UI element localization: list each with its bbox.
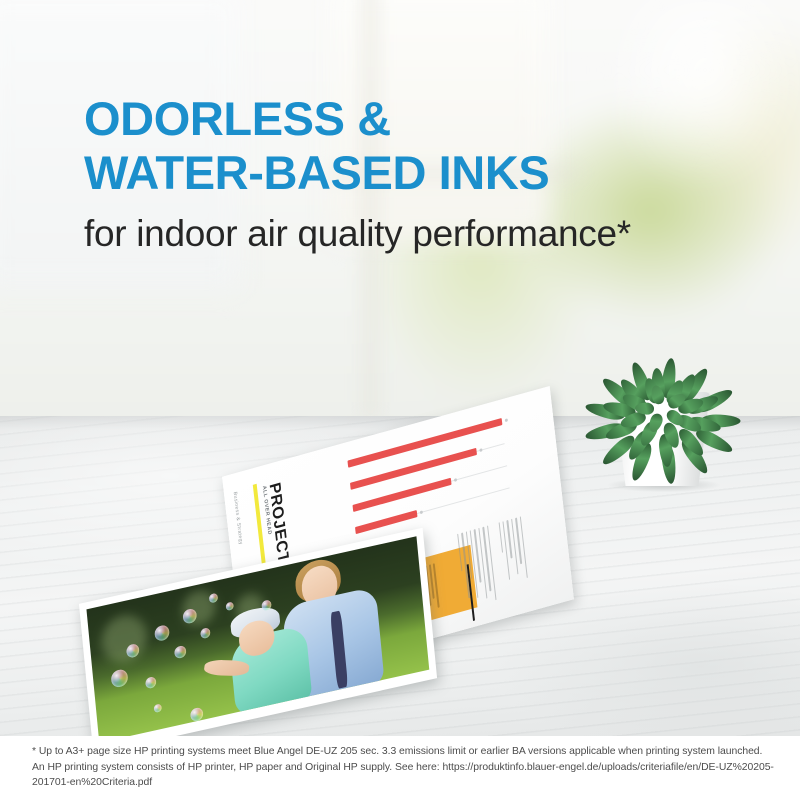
soap-bubble bbox=[126, 643, 140, 659]
footnote-line-1: * Up to A3+ page size HP printing system… bbox=[32, 746, 715, 757]
soap-bubble bbox=[190, 707, 204, 723]
soap-bubble bbox=[145, 676, 157, 689]
brochure-kicker: Business & Strategy bbox=[232, 491, 244, 546]
page-subheadline: for indoor air quality performance* bbox=[84, 212, 764, 256]
soap-bubble bbox=[200, 627, 211, 639]
window-mullion-vertical bbox=[366, 0, 375, 420]
soap-bubble bbox=[154, 624, 170, 642]
soap-bubble bbox=[209, 593, 219, 604]
boy-arm bbox=[203, 659, 250, 676]
brochure-body-text-secondary bbox=[495, 516, 528, 589]
succulent-plant bbox=[592, 306, 732, 486]
brochure-bar-endpoint bbox=[505, 418, 508, 422]
soap-bubble bbox=[153, 703, 162, 713]
brochure-body-text bbox=[454, 525, 496, 609]
footnote-text: * Up to A3+ page size HP printing system… bbox=[32, 744, 774, 791]
photo-bokeh bbox=[100, 611, 149, 667]
brochure-bar-endpoint bbox=[479, 448, 482, 452]
brochure-bar-endpoint bbox=[420, 510, 423, 514]
soap-bubble bbox=[225, 601, 234, 611]
soap-bubble bbox=[174, 645, 187, 660]
soap-bubble bbox=[110, 668, 128, 689]
marketing-banner: Business & Strategy ALL OVER HEAD PROJEC… bbox=[0, 0, 800, 800]
page-headline: ODORLESS & WATER-BASED INKS bbox=[84, 92, 724, 200]
